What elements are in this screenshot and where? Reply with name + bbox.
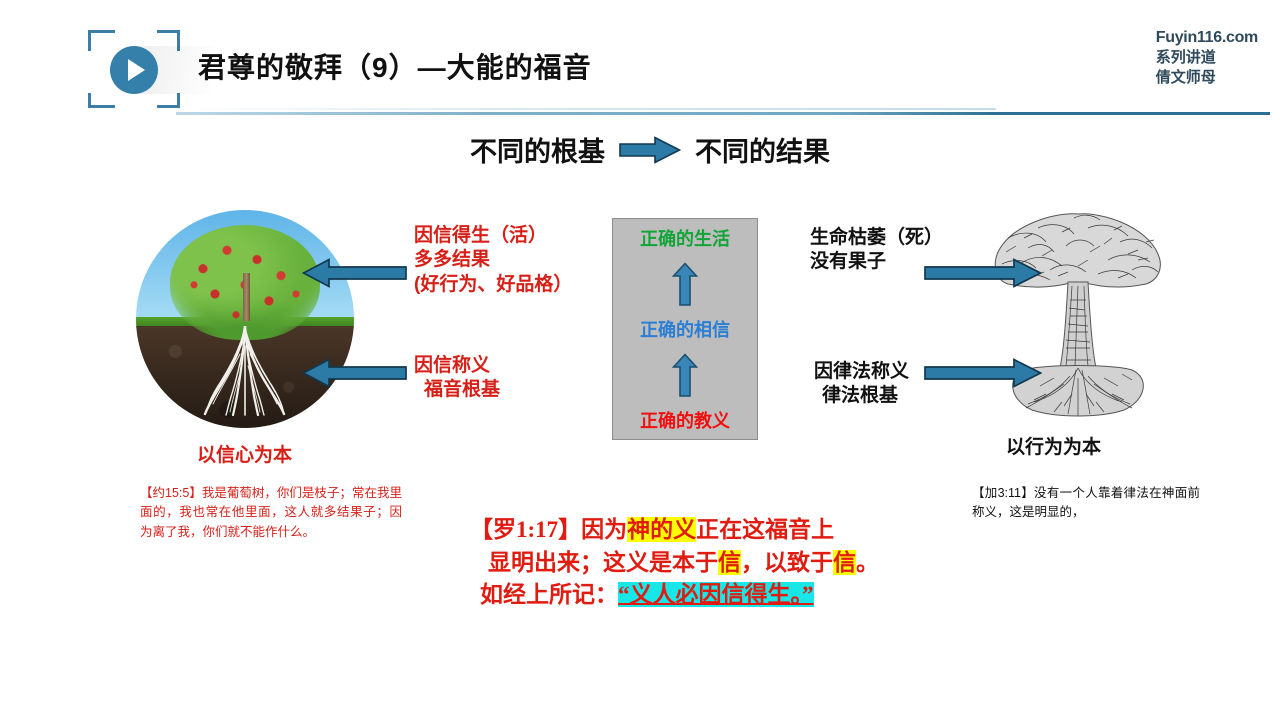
bs-l2-highlight2: 信 (833, 550, 856, 575)
left-callout-top-line2: 多多结果 (414, 248, 572, 272)
brand-speaker: 倩文师母 (1156, 68, 1258, 88)
bs-l1-a: 【罗1:17】因为 (470, 517, 627, 542)
bottom-scripture: 【罗1:17】因为神的义正在这福音上 显明出来；这义是本于信，以致于信。 如经上… (470, 514, 910, 612)
root-system-graphic (185, 326, 305, 416)
brand-site: Fuyin116.com (1156, 27, 1258, 48)
right-arrow-to-roots-icon (924, 358, 1042, 388)
brand-block: Fuyin116.com 系列讲道 倩文师母 (1156, 27, 1258, 88)
left-callout-top: 因信得生（活） 多多结果 (好行为、好品格） (414, 224, 572, 297)
up-block-arrow-icon-2 (672, 353, 698, 397)
bs-l2-a: 显明出来；这义是本于 (488, 550, 718, 575)
left-callout-bottom-line2: 福音根基 (414, 378, 500, 402)
bs-l3-highlight: “义人必因信得生。” (618, 582, 814, 607)
left-callout-top-line1: 因信得生（活） (414, 224, 572, 248)
panel-row-life: 正确的生活 (640, 225, 730, 251)
right-scripture: 【加3:11】没有一个人靠着律法在神面前称义，这是明显的， (972, 484, 1200, 523)
play-button-icon[interactable] (110, 46, 158, 94)
bs-l2-b: ，以致于 (741, 550, 833, 575)
subheading: 不同的根基 不同的结果 (470, 130, 830, 169)
left-scripture: 【约15:5】我是葡萄树，你们是枝子；常在我里面的，我也常在他里面，这人就多结果… (140, 484, 402, 542)
page-title: 君尊的敬拜（9）—大能的福音 (198, 46, 592, 86)
right-callout-bottom-line1: 因律法称义 (814, 360, 909, 384)
subheading-right: 不同的结果 (695, 130, 830, 169)
bottom-scripture-line2: 显明出来；这义是本于信，以致于信。 (470, 547, 910, 580)
panel-row-doctrine: 正确的教义 (640, 407, 730, 433)
right-callout-top-line1: 生命枯萎（死） (810, 226, 943, 250)
right-callout-top: 生命枯萎（死） 没有果子 (810, 226, 943, 275)
right-callout-top-line2: 没有果子 (810, 250, 943, 274)
panel-row-belief: 正确的相信 (640, 316, 730, 342)
up-block-arrow-icon (672, 262, 698, 306)
slide-canvas: 君尊的敬拜（9）—大能的福音 Fuyin116.com 系列讲道 倩文师母 不同… (0, 0, 1280, 720)
right-callout-bottom-line2: 律法根基 (814, 384, 909, 408)
right-callout-bottom: 因律法称义 律法根基 (814, 360, 909, 409)
left-callout-bottom: 因信称义 福音根基 (414, 354, 500, 403)
left-caption: 以信心为本 (197, 440, 292, 467)
bottom-scripture-line1: 【罗1:17】因为神的义正在这福音上 (470, 514, 910, 547)
bottom-scripture-line3: 如经上所记：“义人必因信得生。” (470, 579, 910, 612)
header-divider-light (176, 108, 996, 110)
right-tree-image (978, 208, 1178, 420)
bs-l1-highlight: 神的义 (627, 517, 696, 542)
bs-l1-b: 正在这福音上 (696, 517, 834, 542)
right-block-arrow-icon (619, 136, 681, 164)
bs-l3-a: 如经上所记： (480, 582, 618, 607)
subheading-left: 不同的根基 (470, 130, 605, 169)
right-caption: 以行为为本 (1006, 432, 1101, 459)
header-divider (176, 112, 1270, 115)
left-callout-bottom-line1: 因信称义 (414, 354, 500, 378)
bs-l2-c: 。 (856, 550, 879, 575)
brand-series: 系列讲道 (1156, 48, 1258, 68)
left-arrow-to-roots-icon (302, 358, 407, 388)
left-callout-top-line3: (好行为、好品格） (414, 273, 572, 297)
center-progression-panel: 正确的生活 正确的相信 正确的教义 (612, 218, 758, 440)
left-tree-image (136, 210, 354, 428)
bs-l2-highlight1: 信 (718, 550, 741, 575)
left-arrow-to-canopy-icon (302, 258, 407, 288)
